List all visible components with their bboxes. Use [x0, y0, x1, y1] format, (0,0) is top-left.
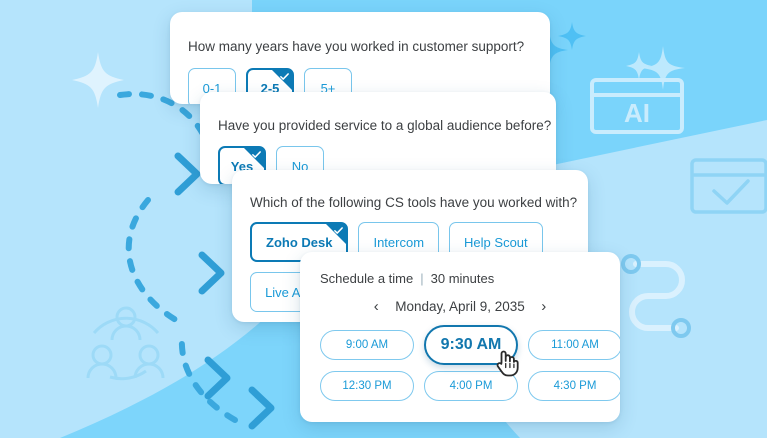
time-slot-label: 4:30 PM — [554, 380, 597, 392]
option-label: Zoho Desk — [266, 235, 332, 250]
time-slot-grid: 9:00 AM 9:30 AM 11:00 AM 12:30 PM 4:00 P… — [320, 330, 620, 401]
sparkle-icon-left — [72, 52, 124, 108]
time-slot[interactable]: 12:30 PM — [320, 371, 414, 401]
scheduler-header: Schedule a time | 30 minutes — [320, 271, 494, 286]
current-date-label: Monday, April 9, 2035 — [395, 299, 525, 314]
date-navigator: ‹ Monday, April 9, 2035 › — [300, 297, 620, 315]
prev-day-button[interactable]: ‹ — [369, 297, 383, 315]
time-slot[interactable]: 11:00 AM — [528, 330, 620, 360]
question-text: Which of the following CS tools have you… — [250, 194, 577, 212]
option-label: Help Scout — [464, 235, 528, 250]
check-icon — [333, 225, 344, 236]
card-scheduler: Schedule a time | 30 minutes ‹ Monday, A… — [300, 252, 620, 422]
time-slot[interactable]: 4:30 PM — [528, 371, 620, 401]
card-years-experience: How many years have you worked in custom… — [170, 12, 550, 104]
time-slot-label: 12:30 PM — [342, 380, 391, 392]
time-slot[interactable]: 9:00 AM — [320, 330, 414, 360]
dashed-arrow-head-1 — [178, 156, 197, 192]
scheduler-title: Schedule a time — [320, 271, 413, 286]
scheduler-duration: 30 minutes — [431, 271, 495, 286]
time-slot[interactable]: 4:00 PM — [424, 371, 518, 401]
dashed-arrow-icon-2 — [129, 200, 185, 325]
people-group-icon — [88, 308, 163, 379]
option-label: Intercom — [373, 235, 424, 250]
workflow-path-icon — [623, 256, 689, 336]
next-day-button[interactable]: › — [537, 297, 551, 315]
check-icon — [251, 149, 262, 160]
time-slot-label: 4:00 PM — [450, 380, 493, 392]
time-slot-label: 9:30 AM — [441, 336, 502, 354]
check-icon — [279, 71, 290, 82]
dashed-arrow-head-2 — [202, 255, 221, 291]
screenshot-stage: AI — [0, 0, 767, 438]
question-text: How many years have you worked in custom… — [188, 38, 524, 56]
checklist-window-icon — [692, 160, 766, 212]
time-slot-label: 9:00 AM — [346, 339, 388, 351]
ai-badge-text: AI — [624, 98, 650, 128]
scheduler-separator: | — [420, 271, 423, 286]
time-slot-selected[interactable]: 9:30 AM — [424, 325, 518, 365]
question-text: Have you provided service to a global au… — [218, 117, 551, 135]
time-slot-label: 11:00 AM — [551, 339, 599, 351]
